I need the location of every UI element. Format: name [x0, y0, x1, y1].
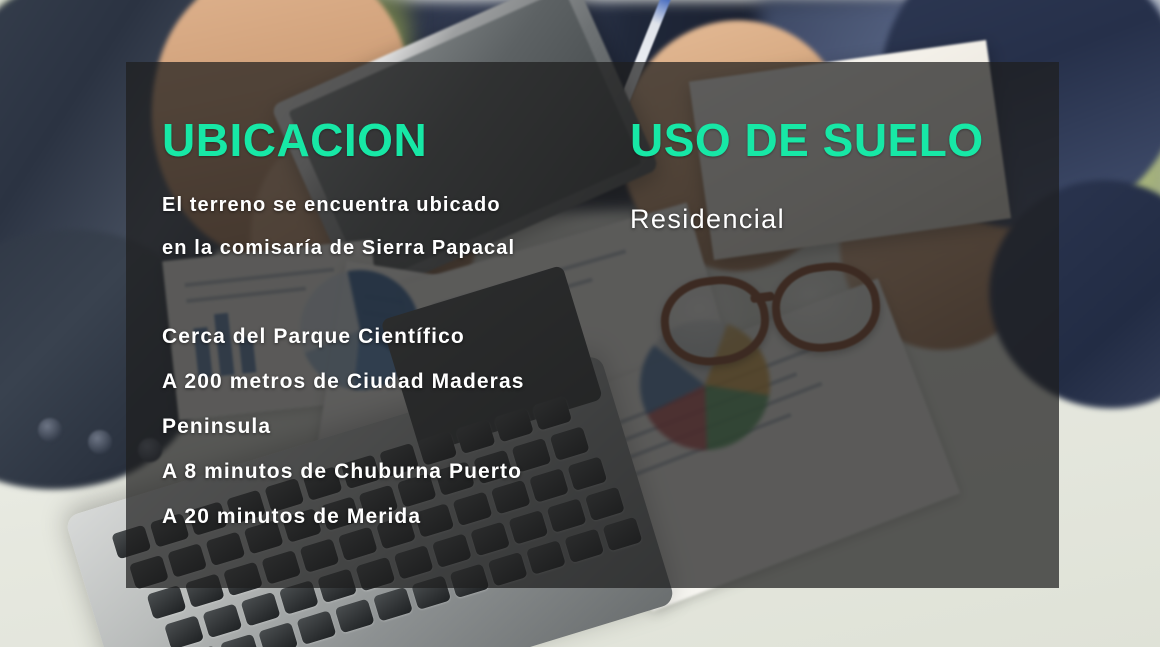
list-item: Cerca del Parque Científico: [162, 314, 632, 359]
uso-de-suelo-value: Residencial: [630, 204, 785, 235]
list-item: A 8 minutos de Chuburna Puerto: [162, 449, 632, 494]
intro-line: El terreno se encuentra ubicado: [162, 184, 622, 227]
cuff-button: [88, 430, 112, 454]
section-heading-ubicacion: UBICACION: [162, 117, 427, 163]
cuff-button: [38, 418, 62, 442]
list-item: A 200 metros de Ciudad Maderas: [162, 359, 632, 404]
section-heading-uso-de-suelo: USO DE SUELO: [630, 117, 984, 163]
intro-line: en la comisaría de Sierra Papacal: [162, 227, 622, 270]
list-item: Peninsula: [162, 404, 632, 449]
list-item: A 20 minutos de Merida: [162, 494, 632, 539]
ubicacion-bullet-list: Cerca del Parque Científico A 200 metros…: [162, 314, 632, 539]
slide-content: UBICACION El terreno se encuentra ubicad…: [126, 62, 1059, 588]
presentation-slide: UBICACION El terreno se encuentra ubicad…: [0, 0, 1160, 647]
ubicacion-intro-text: El terreno se encuentra ubicado en la co…: [162, 184, 622, 270]
